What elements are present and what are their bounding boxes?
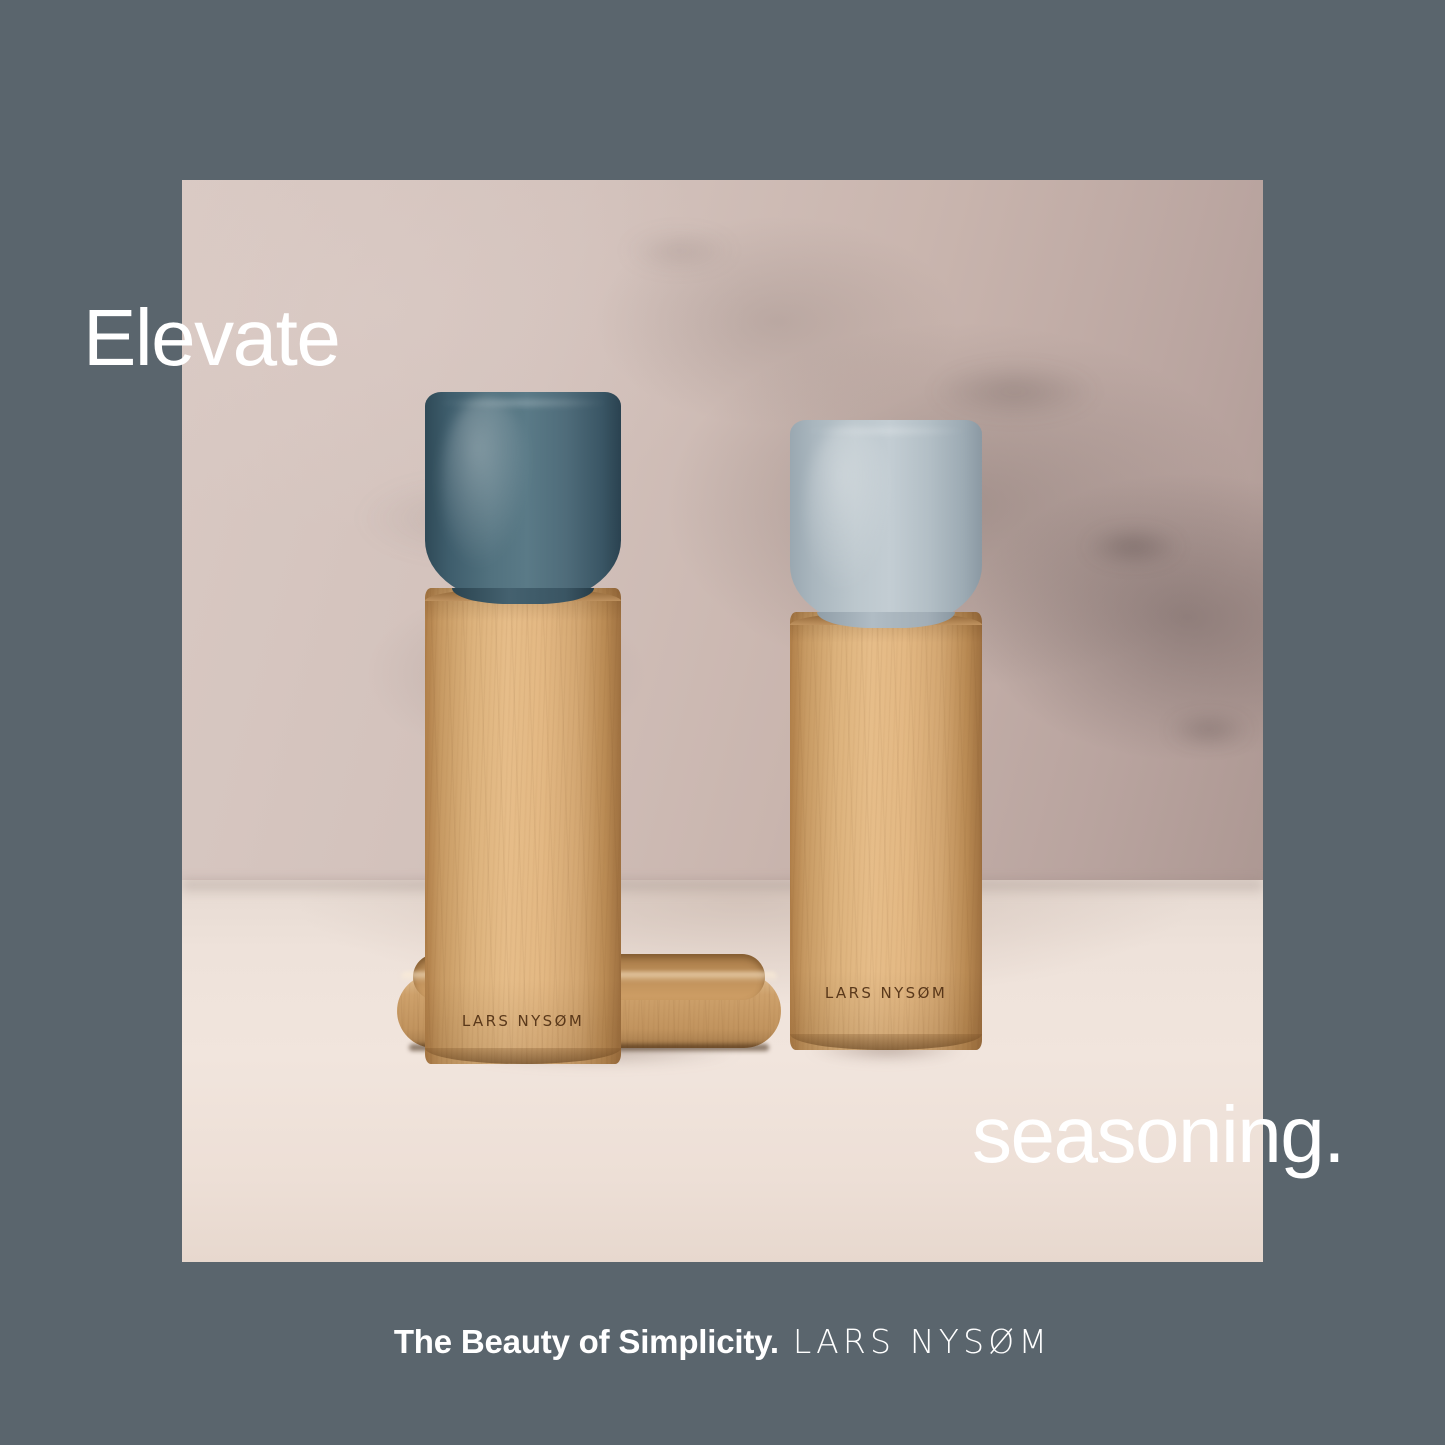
table-surface xyxy=(182,880,1263,1262)
pepper-mill-wood-grain xyxy=(425,588,621,1064)
pepper-mill-engraving: LARS NYSØM xyxy=(425,1012,621,1030)
wall-background xyxy=(182,180,1263,885)
footer-tagline: The Beauty of Simplicity. xyxy=(394,1323,779,1360)
salt-mill-engraving: LARS NYSØM xyxy=(790,984,982,1002)
pepper-mill-cap-highlight xyxy=(441,396,531,570)
salt-mill-wood-grain xyxy=(790,612,982,1050)
pepper-mill-cap-sheen xyxy=(437,398,609,408)
salt-mill-cap-sheen xyxy=(802,426,971,436)
pepper-mill-wood-body: LARS NYSØM xyxy=(425,588,621,1064)
pepper-mill-ceramic-cap xyxy=(425,392,621,604)
salt-mill-light: LARS NYSØM xyxy=(790,420,982,1050)
headline-line-top: Elevate xyxy=(83,298,339,378)
salt-mill-bottom-edge xyxy=(790,1034,982,1050)
table-wall-junction xyxy=(182,880,1263,896)
salt-mill-ceramic-cap xyxy=(790,420,982,628)
headline-line-bottom: seasoning. xyxy=(972,1095,1344,1175)
pepper-mill-bottom-edge xyxy=(425,1048,621,1064)
wall-texture xyxy=(182,180,1263,885)
salt-mill-wood-body: LARS NYSØM xyxy=(790,612,982,1050)
footer-bar: The Beauty of Simplicity.LARS NYSØM xyxy=(0,1322,1445,1361)
pepper-mill-dark: LARS NYSØM xyxy=(425,392,621,1064)
ad-creative: LARS NYSØM LARS NYSØM Elevate xyxy=(0,0,1445,1445)
brand-wordmark: LARS NYSØM xyxy=(793,1322,1051,1361)
salt-mill-cap-highlight xyxy=(805,424,893,595)
